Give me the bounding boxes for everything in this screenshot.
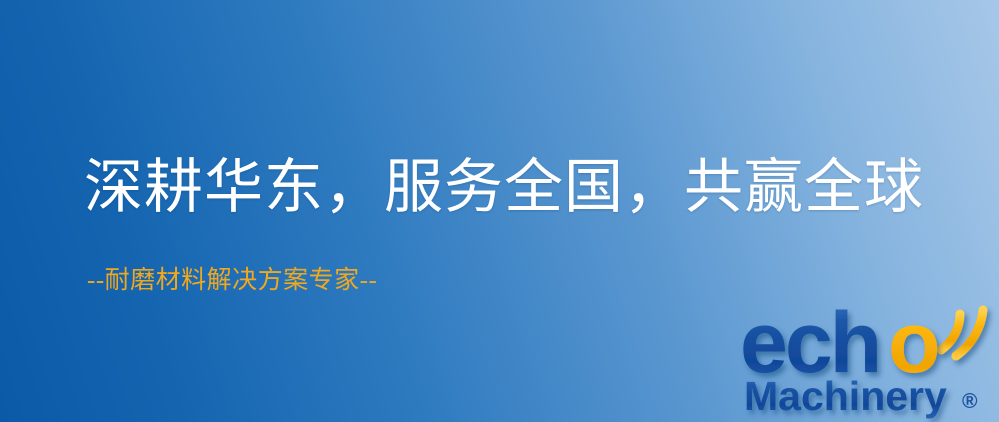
- banner-subtitle: --耐磨材料解决方案专家--: [87, 265, 377, 297]
- banner-headline: 深耕华东，服务全国，共赢全球: [84, 152, 924, 222]
- echo-machinery-logo: ech o Machinery ®: [740, 288, 998, 422]
- signal-arcs-icon: [941, 310, 983, 356]
- promo-banner: 深耕华东，服务全国，共赢全球 --耐磨材料解决方案专家--: [0, 0, 999, 422]
- registered-trademark-icon: ®: [962, 390, 978, 413]
- logo-machinery-text: Machinery: [744, 373, 947, 419]
